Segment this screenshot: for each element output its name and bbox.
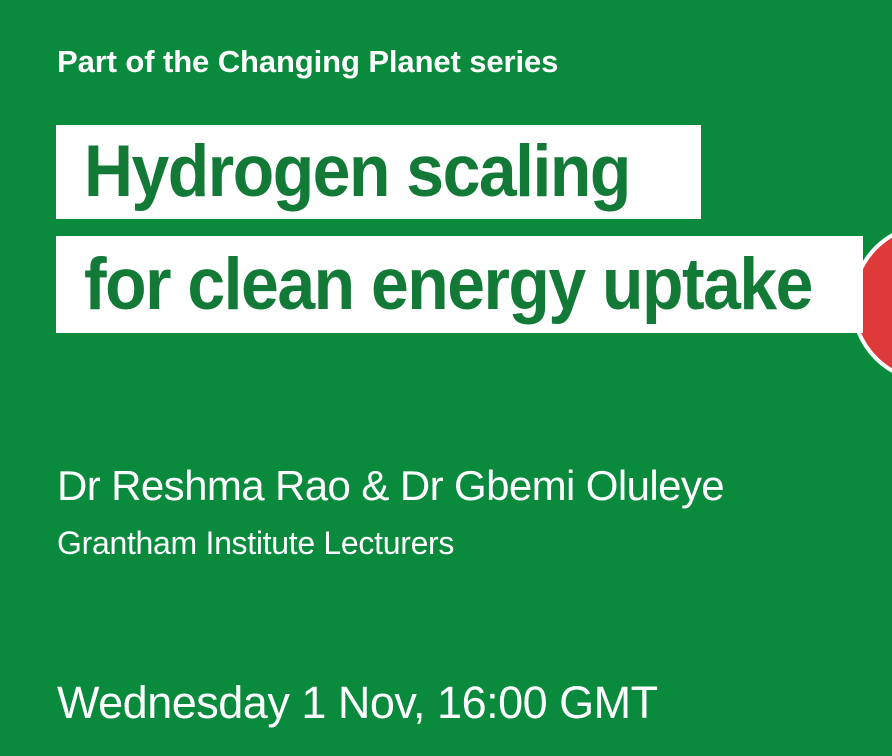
speaker-names: Dr Reshma Rao & Dr Gbemi Oluleye [57, 462, 724, 510]
event-poster: Part of the Changing Planet series Hydro… [0, 0, 892, 756]
series-eyebrow-label: Part of the Changing Planet series [57, 44, 558, 80]
title-band-first: Hydrogen scaling [56, 125, 701, 219]
speaker-role-label: Grantham Institute Lecturers [57, 525, 454, 562]
event-datetime: Wednesday 1 Nov, 16:00 GMT [57, 677, 658, 729]
title-line-2: for clean energy uptake [84, 251, 812, 318]
title-line-1: Hydrogen scaling [84, 138, 630, 205]
title-band-second: for clean energy uptake [56, 236, 863, 333]
